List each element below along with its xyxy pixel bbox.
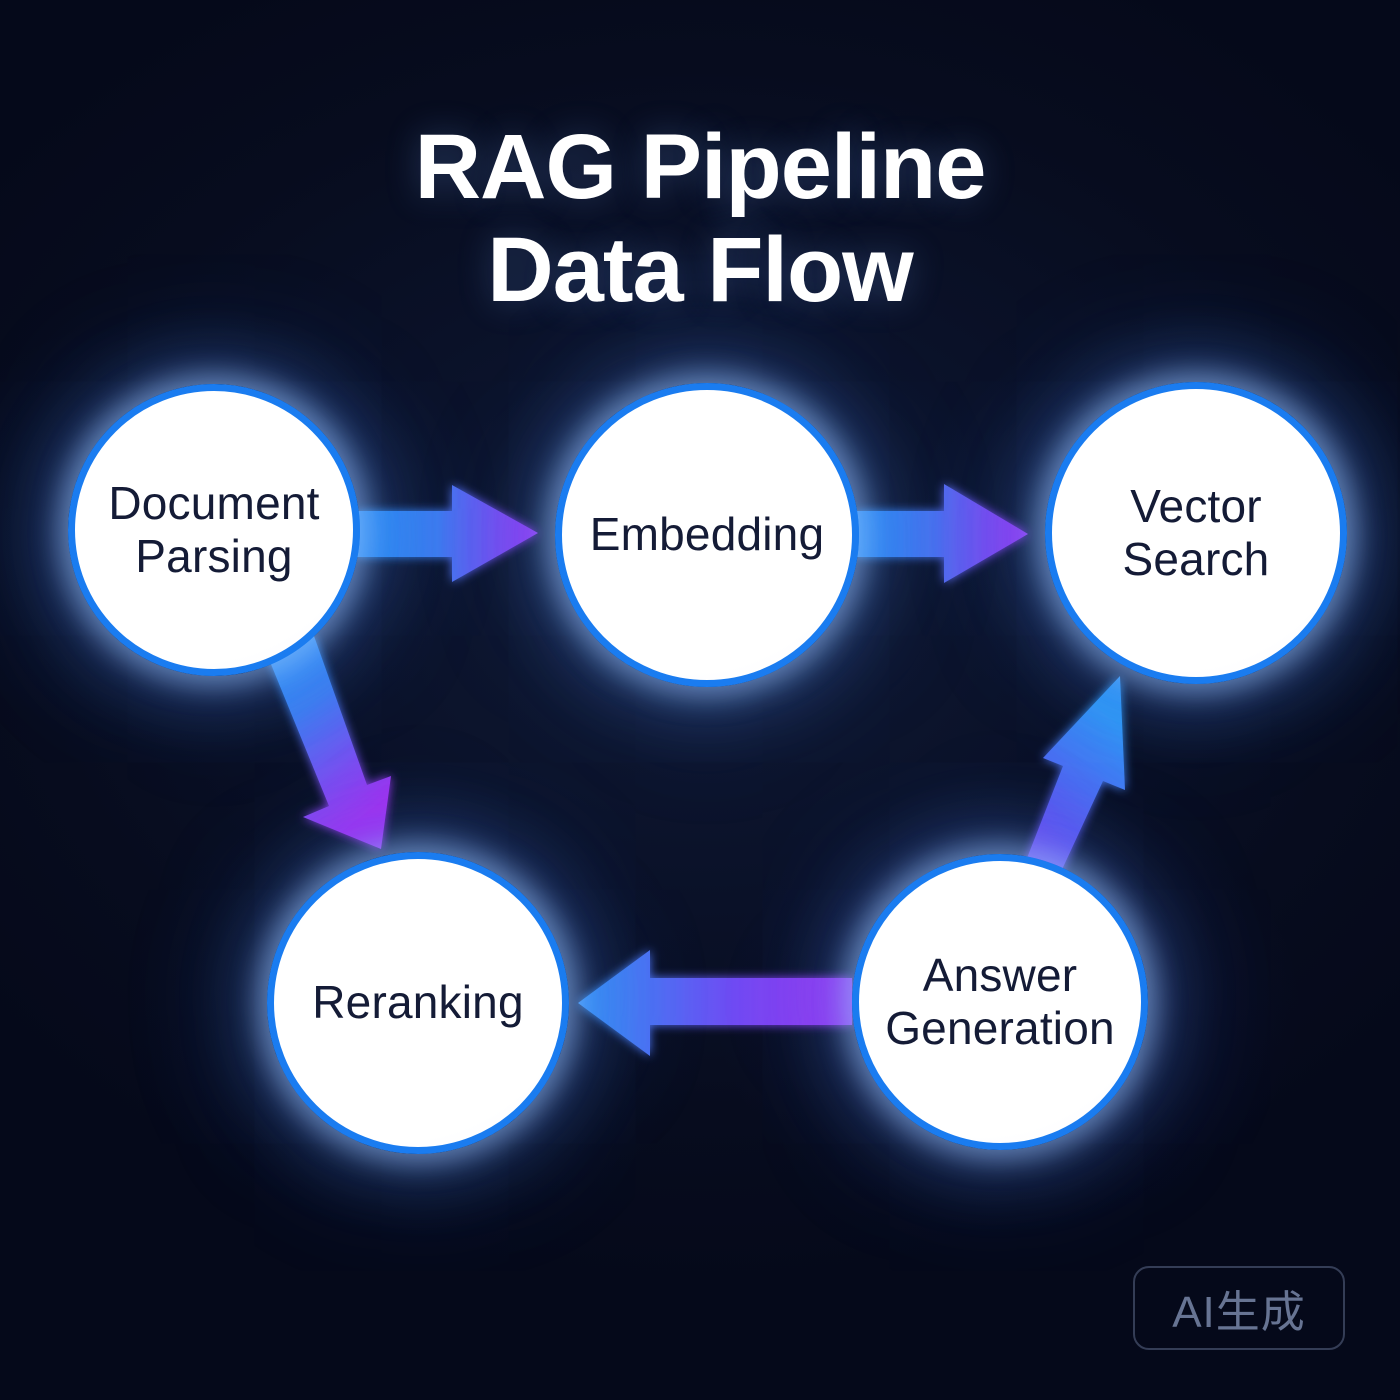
arrow-document-parsing-to-embedding bbox=[356, 485, 538, 582]
title-line-2: Data Flow bbox=[0, 219, 1400, 322]
node-embedding-label: Embedding bbox=[576, 508, 839, 561]
ai-generated-watermark: AI生成 bbox=[1133, 1266, 1345, 1350]
arrow-answer-generation-to-reranking bbox=[578, 950, 852, 1056]
node-document-parsing[interactable]: DocumentParsing bbox=[68, 384, 360, 676]
diagram-canvas: RAG Pipeline Data Flow bbox=[0, 0, 1400, 1400]
node-embedding[interactable]: Embedding bbox=[555, 383, 859, 687]
node-vector-search[interactable]: VectorSearch bbox=[1045, 382, 1347, 684]
node-answer-generation[interactable]: AnswerGeneration bbox=[852, 854, 1148, 1150]
node-document-parsing-label: DocumentParsing bbox=[94, 477, 333, 584]
node-vector-search-label: VectorSearch bbox=[1109, 480, 1284, 587]
page-title: RAG Pipeline Data Flow bbox=[0, 116, 1400, 322]
node-reranking[interactable]: Reranking bbox=[267, 852, 569, 1154]
ai-generated-watermark-label: AI生成 bbox=[1172, 1276, 1306, 1340]
node-vector-search-label-line2: Search bbox=[1123, 533, 1270, 585]
node-document-parsing-label-line1: Document bbox=[108, 477, 319, 529]
node-answer-generation-label-line2: Generation bbox=[885, 1002, 1115, 1054]
node-vector-search-label-line1: Vector bbox=[1130, 480, 1262, 532]
title-line-1: RAG Pipeline bbox=[0, 116, 1400, 219]
node-reranking-label: Reranking bbox=[298, 976, 537, 1029]
node-answer-generation-label: AnswerGeneration bbox=[871, 949, 1129, 1056]
node-answer-generation-label-line1: Answer bbox=[923, 949, 1078, 1001]
arrow-embedding-to-vector-search bbox=[856, 484, 1028, 583]
node-document-parsing-label-line2: Parsing bbox=[135, 530, 292, 582]
arrow-document-parsing-to-reranking bbox=[266, 636, 391, 849]
